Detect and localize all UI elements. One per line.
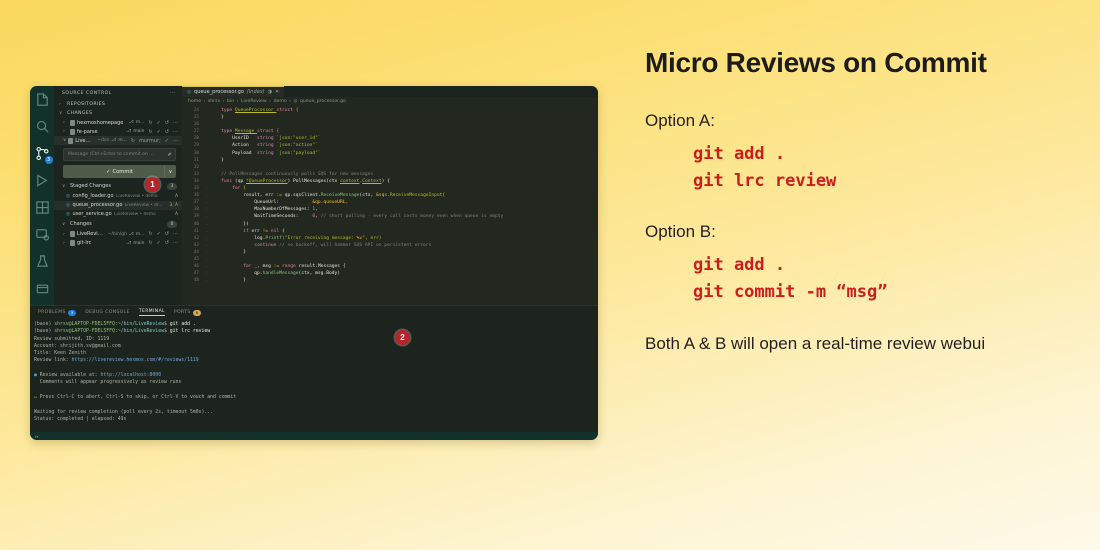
repo-icon bbox=[70, 120, 75, 126]
branch-icon: ⎇ bbox=[111, 138, 116, 143]
line-number: 33 bbox=[182, 171, 203, 178]
search-icon[interactable] bbox=[35, 119, 50, 134]
refresh-icon[interactable]: ↻ bbox=[131, 138, 135, 144]
code-line: 27 type Message struct { bbox=[182, 128, 598, 135]
chevron-down-icon: ∨ bbox=[59, 111, 64, 116]
commit-check-icon[interactable]: ✓ bbox=[157, 231, 161, 237]
repo-row[interactable]: › LiveReview ~/bin/gh ⎇ m... ↻ ✓ ↺ ⋯ bbox=[54, 230, 182, 239]
file-meta: LiveReview • demo bbox=[116, 194, 158, 199]
fold-indicator[interactable] bbox=[203, 114, 210, 121]
sync-icon[interactable]: ↺ bbox=[165, 129, 169, 135]
fold-indicator[interactable]: · bbox=[203, 256, 210, 263]
fold-indicator[interactable]: · bbox=[203, 249, 210, 256]
line-number: 29 bbox=[182, 142, 203, 149]
commit-message-input[interactable]: Message (Ctrl+Enter to commit on ... ✐ bbox=[63, 148, 176, 161]
code-text: Payload string `json:"payload"` bbox=[210, 150, 598, 157]
go-file-icon: ◎ bbox=[187, 90, 191, 95]
fold-indicator[interactable]: · bbox=[203, 235, 210, 242]
code-text: Action string `json:"action"` bbox=[210, 142, 598, 149]
repo-name: hexmoshomepage bbox=[77, 120, 123, 126]
fold-indicator[interactable] bbox=[203, 128, 210, 135]
line-number: 47 bbox=[182, 270, 203, 277]
code-text bbox=[210, 164, 598, 171]
breadcrumb-separator: › bbox=[204, 99, 206, 104]
option-b-label: Option B: bbox=[645, 222, 1085, 242]
slide-content: Micro Reviews on Commit Option A: git ad… bbox=[645, 48, 1085, 518]
code-text: log.Printf("Error receiving message: %v"… bbox=[210, 235, 598, 242]
line-number: 27 bbox=[182, 128, 203, 135]
go-file-icon: ◎ bbox=[66, 212, 70, 217]
code-text: // PollMessages continuously polls SQS f… bbox=[210, 171, 598, 178]
remote-explorer-icon[interactable] bbox=[35, 227, 50, 242]
code-line: 43· continue // no backoff, will hammer … bbox=[182, 242, 598, 249]
code-text: type Message struct { bbox=[210, 128, 598, 135]
commit-check-icon[interactable]: ✓ bbox=[157, 120, 161, 126]
explorer-icon[interactable] bbox=[35, 92, 50, 107]
changes-count-badge: 0 bbox=[167, 221, 177, 228]
code-line: 32 bbox=[182, 164, 598, 171]
more-icon[interactable]: ⋯ bbox=[173, 120, 178, 126]
option-b-code: git add . git commit -m “msg” bbox=[645, 252, 1085, 306]
fold-indicator[interactable]: · bbox=[203, 206, 210, 213]
panel-tab-bar: PROBLEMS3DEBUG CONSOLETERMINALPORTS6 bbox=[30, 306, 598, 318]
code-line: 44· } bbox=[182, 249, 598, 256]
code-line: 48· } bbox=[182, 277, 598, 284]
line-number: 32 bbox=[182, 164, 203, 171]
chevron-down-icon: ∨ bbox=[62, 184, 67, 189]
staged-changes-group[interactable]: ∨ Staged Changes 3 bbox=[54, 181, 182, 192]
repo-row[interactable]: › hexmoshomepage ⎇ m... ↻ ✓ ↺ ⋯ bbox=[54, 118, 182, 127]
panel-tab-ports[interactable]: PORTS6 bbox=[174, 310, 201, 316]
branch-name: m... bbox=[118, 138, 126, 143]
staged-file-row[interactable]: ◎ config_loader.go LiveReview • demo A bbox=[54, 192, 182, 201]
terminal-line: Waiting for review completion (poll ever… bbox=[34, 409, 592, 416]
panel-tab-badge: 3 bbox=[68, 310, 76, 316]
panel-tab-terminal[interactable]: TERMINAL bbox=[139, 309, 165, 316]
code-line: 24 type QueueProcessor struct { bbox=[182, 107, 598, 114]
repo-icon bbox=[70, 240, 75, 246]
code-text bbox=[210, 256, 598, 263]
code-text: if err != nil { bbox=[210, 228, 598, 235]
fold-indicator[interactable] bbox=[203, 164, 210, 171]
breadcrumb-separator: › bbox=[269, 99, 271, 104]
terminal-line: (base) shrsv@LAPTOP-FDEL5FFQ:~/bin/LiveR… bbox=[34, 321, 592, 328]
code-line: 37· QueueUrl: &qp.queueURL, bbox=[182, 199, 598, 206]
panel-tab-label: TERMINAL bbox=[139, 309, 165, 314]
chevron-right-icon: › bbox=[63, 241, 68, 246]
fold-indicator[interactable]: · bbox=[203, 228, 210, 235]
breadcrumb-separator: › bbox=[289, 99, 291, 104]
file-status-flag: 3, A bbox=[169, 203, 178, 208]
sparkle-pen-icon[interactable]: ✐ bbox=[168, 152, 172, 158]
panel-tab-badge: 6 bbox=[193, 310, 201, 316]
code-text: result, err := qp.sqsClient.ReceiveMessa… bbox=[210, 192, 598, 199]
editor-tab-queue-processor[interactable]: ◎ queue_processor.go (Index) ◑ ✕ bbox=[182, 86, 284, 98]
panel-tab-debug-console[interactable]: DEBUG CONSOLE bbox=[85, 310, 130, 315]
vscode-screenshot: 3 SOURCE CONTROL ··· bbox=[30, 86, 598, 440]
repo-name: LiveReview bbox=[77, 231, 104, 237]
fold-indicator[interactable]: · bbox=[203, 242, 210, 249]
more-icon[interactable]: ⋯ bbox=[173, 129, 178, 135]
annotation-badge-2: 2 bbox=[395, 330, 410, 345]
repo-row[interactable]: › git-lrc ⎇ main ↻ ✓ ↺ ⋯ bbox=[54, 239, 182, 248]
terminal-line: Review submitted, ID: 1119 bbox=[34, 336, 592, 343]
commit-check-icon[interactable]: ✓ bbox=[157, 240, 161, 246]
file-name: queue_processor.go bbox=[73, 202, 123, 208]
code-line: 45· bbox=[182, 256, 598, 263]
code-line: 42· log.Printf("Error receiving message:… bbox=[182, 235, 598, 242]
breadcrumb-item[interactable]: LiveReview bbox=[241, 99, 267, 104]
line-number: 28 bbox=[182, 135, 203, 142]
breadcrumb-item[interactable]: shrsv bbox=[208, 99, 220, 104]
run-and-debug-icon[interactable] bbox=[35, 173, 50, 188]
code-editor-area[interactable]: 24 type QueueProcessor struct {25 }2627 … bbox=[182, 106, 598, 305]
panel-tab-label: DEBUG CONSOLE bbox=[85, 310, 130, 315]
terminal-line bbox=[34, 387, 592, 394]
repo-icon bbox=[68, 138, 73, 144]
line-number: 42 bbox=[182, 235, 203, 242]
scm-more-icon[interactable]: ··· bbox=[170, 91, 176, 96]
changes-label: Changes bbox=[70, 221, 92, 227]
commit-message-placeholder: Message (Ctrl+Enter to commit on ... bbox=[68, 152, 154, 157]
code-line: 26 bbox=[182, 121, 598, 128]
chevron-down-icon: ∨ bbox=[63, 138, 66, 143]
terminal-line: Comments will appear progressively as re… bbox=[34, 379, 592, 386]
repo-path: ~/bin/gh bbox=[108, 232, 127, 237]
page-title: Micro Reviews on Commit bbox=[645, 48, 1085, 79]
panel-tab-problems[interactable]: PROBLEMS3 bbox=[38, 310, 76, 316]
docker-icon[interactable] bbox=[35, 281, 50, 296]
code-line: 29 Action string `json:"action"` bbox=[182, 142, 598, 149]
code-line: 46· for _, msg := range result.Messages … bbox=[182, 263, 598, 270]
line-number: 45 bbox=[182, 256, 203, 263]
branch-name: m... bbox=[136, 120, 144, 125]
sync-icon[interactable]: ↺ bbox=[165, 231, 169, 237]
repo-name: LiveReview bbox=[75, 138, 93, 144]
branch-icon: ⎇ bbox=[126, 129, 131, 134]
repo-name: git-lrc bbox=[77, 240, 91, 246]
code-line: 35· for { bbox=[182, 185, 598, 192]
go-file-icon: ◎ bbox=[66, 203, 70, 208]
code-text: }) bbox=[210, 221, 598, 228]
terminal-line: Title: Keen Zenith bbox=[34, 350, 592, 357]
line-number: 36 bbox=[182, 192, 203, 199]
file-meta: LiveReview • demo bbox=[114, 212, 156, 217]
code-text: continue // no backoff, will hammer SQS … bbox=[210, 242, 598, 249]
scm-title: SOURCE CONTROL bbox=[62, 91, 112, 96]
line-number: 31 bbox=[182, 157, 203, 164]
fold-indicator[interactable] bbox=[203, 157, 210, 164]
fold-indicator[interactable]: · bbox=[203, 277, 210, 284]
annotation-badge-1: 1 bbox=[145, 177, 160, 192]
fold-indicator[interactable]: · bbox=[203, 213, 210, 220]
repo-row[interactable]: › fe-parse ⎇ main ↻ ✓ ↺ ⋯ bbox=[54, 127, 182, 136]
tab-lock-icon[interactable]: ◑ bbox=[268, 89, 272, 95]
fold-indicator[interactable]: · bbox=[203, 221, 210, 228]
file-status-flag: A bbox=[175, 212, 178, 217]
branch-name: main bbox=[133, 241, 144, 246]
line-number: 38 bbox=[182, 206, 203, 213]
file-name: user_service.go bbox=[73, 211, 112, 217]
code-text: for { bbox=[210, 185, 598, 192]
fold-indicator[interactable] bbox=[203, 142, 210, 149]
line-number: 24 bbox=[182, 107, 203, 114]
line-number: 43 bbox=[182, 242, 203, 249]
commit-button[interactable]: ✓ Commit ∨ bbox=[63, 165, 176, 178]
commit-button-label: Commit bbox=[112, 169, 132, 175]
code-text bbox=[210, 121, 598, 128]
commit-dropdown-button[interactable]: ∨ bbox=[164, 165, 176, 178]
code-text: type QueueProcessor struct { bbox=[210, 107, 598, 114]
sync-icon[interactable]: ↺ bbox=[165, 120, 169, 126]
code-line: 47· qp.handleMessage(ctx, msg.Body) bbox=[182, 270, 598, 277]
code-line: 25 } bbox=[182, 114, 598, 121]
code-text: WaitTimeSeconds: 0, // short polling - e… bbox=[210, 213, 598, 220]
branch-icon: ⎇ bbox=[129, 120, 134, 125]
line-number: 34 bbox=[182, 178, 203, 185]
code-text: } bbox=[210, 157, 598, 164]
refresh-icon[interactable]: ↻ bbox=[148, 120, 152, 126]
remote-indicator-icon[interactable]: ›‹ bbox=[35, 434, 38, 439]
activity-bar: 3 bbox=[30, 86, 54, 305]
terminal-output[interactable]: (base) shrsv@LAPTOP-FDEL5FFQ:~/bin/LiveR… bbox=[30, 318, 598, 432]
refresh-icon[interactable]: ↻ bbox=[148, 240, 152, 246]
terminal-line bbox=[34, 365, 592, 372]
chevron-right-icon: › bbox=[59, 102, 64, 107]
staged-changes-label: Staged Changes bbox=[70, 183, 111, 189]
breadcrumb-separator: › bbox=[237, 99, 239, 104]
terminal-line: Account: shrijith.sv@gmail.com bbox=[34, 343, 592, 350]
code-line: 40· }) bbox=[182, 221, 598, 228]
code-line: 41· if err != nil { bbox=[182, 228, 598, 235]
editor-column: ◎ queue_processor.go (Index) ◑ ✕ home › … bbox=[182, 86, 598, 305]
more-icon[interactable]: ⋯ bbox=[173, 240, 178, 246]
code-line: 30 Payload string `json:"payload"` bbox=[182, 150, 598, 157]
chevron-down-icon: ∨ bbox=[62, 222, 67, 227]
scm-section-label: REPOSITORIES bbox=[67, 102, 105, 107]
file-name: config_loader.go bbox=[73, 193, 114, 199]
scm-header: SOURCE CONTROL ··· bbox=[54, 86, 182, 100]
fold-indicator[interactable] bbox=[203, 150, 210, 157]
breadcrumb: home › shrsv › bin › LiveReview › demo ›… bbox=[182, 97, 598, 106]
line-number: 46 bbox=[182, 263, 203, 270]
repo-name: fe-parse bbox=[77, 129, 98, 135]
code-line: 31 } bbox=[182, 157, 598, 164]
tab-label: queue_processor.go bbox=[194, 89, 244, 95]
staged-file-row-selected[interactable]: ◎ queue_processor.go LiveReview • dr... … bbox=[54, 201, 182, 210]
line-number: 37 bbox=[182, 199, 203, 206]
repo-row-livereview[interactable]: ∨ LiveReview ~/bin ⎇ m... ↻ murmur; ✓ ⋯ bbox=[54, 136, 182, 145]
option-a-label: Option A: bbox=[645, 111, 1085, 131]
line-number: 25 bbox=[182, 114, 203, 121]
fold-indicator[interactable] bbox=[203, 171, 210, 178]
breadcrumb-item[interactable]: bin bbox=[227, 99, 234, 104]
scm-section-label: CHANGES bbox=[67, 111, 92, 116]
refresh-icon[interactable]: ↻ bbox=[148, 129, 152, 135]
code-text: for _, msg := range result.Messages { bbox=[210, 263, 598, 270]
code-text: UserID string `json:"user_id"` bbox=[210, 135, 598, 142]
line-number: 30 bbox=[182, 150, 203, 157]
scm-section-changes[interactable]: ∨ CHANGES bbox=[54, 109, 182, 118]
branch-name: m... bbox=[136, 232, 144, 237]
breadcrumb-item[interactable]: demo bbox=[274, 99, 287, 104]
line-number: 48 bbox=[182, 277, 203, 284]
file-status-flag: A bbox=[175, 194, 178, 199]
option-a-code: git add . git lrc review bbox=[645, 141, 1085, 195]
code-text: func (qp *QueueProcessor) PollMessages(c… bbox=[210, 178, 598, 185]
fold-indicator[interactable] bbox=[203, 121, 210, 128]
commit-check-icon[interactable]: ✓ bbox=[157, 129, 161, 135]
code-line: 36· result, err := qp.sqsClient.ReceiveM… bbox=[182, 192, 598, 199]
fold-indicator[interactable]: · bbox=[203, 185, 210, 192]
testing-icon[interactable] bbox=[35, 254, 50, 269]
breadcrumb-item[interactable]: home bbox=[188, 99, 201, 104]
panel-tab-label: PROBLEMS bbox=[38, 310, 66, 315]
line-number: 39 bbox=[182, 213, 203, 220]
code-text: } bbox=[210, 114, 598, 121]
code-line: 39· WaitTimeSeconds: 0, // short polling… bbox=[182, 213, 598, 220]
tab-state: (Index) bbox=[247, 89, 265, 95]
chevron-right-icon: › bbox=[63, 232, 68, 237]
repo-icon bbox=[70, 129, 75, 135]
commit-check-icon[interactable]: ✓ bbox=[165, 138, 169, 144]
repo-branch: ⎇ m... bbox=[111, 138, 127, 143]
code-text: MaxNumberOfMessages: 1, bbox=[210, 206, 598, 213]
changes-group[interactable]: ∨ Changes 0 bbox=[54, 219, 182, 230]
line-number: 26 bbox=[182, 121, 203, 128]
staged-count-badge: 3 bbox=[167, 183, 177, 190]
branch-icon: ⎇ bbox=[129, 232, 134, 237]
panel-tab-label: PORTS bbox=[174, 310, 191, 315]
code-text: } bbox=[210, 277, 598, 284]
terminal-line: Status: completed | elapsed: 49s bbox=[34, 416, 592, 423]
branch-name: main bbox=[133, 129, 144, 134]
terminal-line: ᴗ Press Ctrl-C to abort, Ctrl-S to skip,… bbox=[34, 394, 592, 401]
source-control-panel: SOURCE CONTROL ··· › REPOSITORIES ∨ CHAN… bbox=[54, 86, 182, 305]
code-text: qp.handleMessage(ctx, msg.Body) bbox=[210, 270, 598, 277]
code-line: 38· MaxNumberOfMessages: 1, bbox=[182, 206, 598, 213]
repo-path: ~/bin bbox=[97, 138, 109, 143]
line-number: 40 bbox=[182, 221, 203, 228]
source-control-badge: 3 bbox=[45, 156, 53, 164]
code-line: 33 // PollMessages continuously polls SQ… bbox=[182, 171, 598, 178]
chevron-right-icon: › bbox=[63, 120, 68, 125]
fold-indicator[interactable] bbox=[203, 135, 210, 142]
check-icon: ✓ bbox=[106, 169, 110, 175]
code-line: 34 func (qp *QueueProcessor) PollMessage… bbox=[182, 178, 598, 185]
breadcrumb-separator: › bbox=[223, 99, 225, 104]
extensions-icon[interactable] bbox=[35, 200, 50, 215]
terminal-line bbox=[34, 401, 592, 408]
line-number: 35 bbox=[182, 185, 203, 192]
repo-icon bbox=[70, 231, 75, 237]
closing-text: Both A & B will open a real-time review … bbox=[645, 332, 1065, 357]
refresh-icon[interactable]: ↻ bbox=[148, 231, 152, 237]
fold-indicator[interactable]: · bbox=[203, 270, 210, 277]
terminal-line: Review link: https://livereview.hexmos.c… bbox=[34, 357, 592, 364]
fold-indicator[interactable]: · bbox=[203, 199, 210, 206]
source-control-icon[interactable]: 3 bbox=[35, 146, 50, 161]
code-text: } bbox=[210, 249, 598, 256]
repo-branch: ⎇ main bbox=[126, 129, 144, 134]
vscode-body: 3 SOURCE CONTROL ··· bbox=[30, 86, 598, 305]
fold-indicator[interactable] bbox=[203, 178, 210, 185]
terminal-line: (base) shrsv@LAPTOP-FDEL5FFQ:~/bin/LiveR… bbox=[34, 328, 592, 335]
bottom-panel: PROBLEMS3DEBUG CONSOLETERMINALPORTS6 (ba… bbox=[30, 305, 598, 432]
fold-indicator[interactable]: · bbox=[203, 263, 210, 270]
more-icon[interactable]: ⋯ bbox=[173, 231, 178, 237]
more-icon[interactable]: ⋯ bbox=[173, 138, 178, 144]
comment-icon[interactable]: murmur; bbox=[139, 138, 161, 144]
repo-branch: ⎇ main bbox=[126, 241, 144, 246]
tab-close-icon[interactable]: ✕ bbox=[275, 89, 279, 95]
fold-indicator[interactable] bbox=[203, 107, 210, 114]
fold-indicator[interactable]: · bbox=[203, 192, 210, 199]
terminal-line: ● Review available at: http://localhost:… bbox=[34, 372, 592, 379]
line-number: 41 bbox=[182, 228, 203, 235]
branch-icon: ⎇ bbox=[126, 241, 131, 246]
repo-branch: ⎇ m... bbox=[129, 120, 145, 125]
staged-file-row[interactable]: ◎ user_service.go LiveReview • demo A bbox=[54, 210, 182, 219]
code-line: 28 UserID string `json:"user_id"` bbox=[182, 135, 598, 142]
go-file-icon: ◎ bbox=[66, 194, 70, 199]
file-meta: LiveReview • dr... bbox=[125, 203, 163, 208]
breadcrumb-item[interactable]: queue_processor.go bbox=[300, 99, 346, 104]
sync-icon[interactable]: ↺ bbox=[165, 240, 169, 246]
repo-branch: ⎇ m... bbox=[129, 232, 145, 237]
editor-tab-bar: ◎ queue_processor.go (Index) ◑ ✕ bbox=[182, 86, 598, 97]
chevron-right-icon: › bbox=[63, 129, 68, 134]
scm-section-repositories[interactable]: › REPOSITORIES bbox=[54, 100, 182, 109]
status-bar: ›‹ bbox=[30, 432, 598, 440]
line-number: 44 bbox=[182, 249, 203, 256]
code-text: QueueUrl: &qp.queueURL, bbox=[210, 199, 598, 206]
go-file-icon: ◎ bbox=[293, 99, 297, 104]
